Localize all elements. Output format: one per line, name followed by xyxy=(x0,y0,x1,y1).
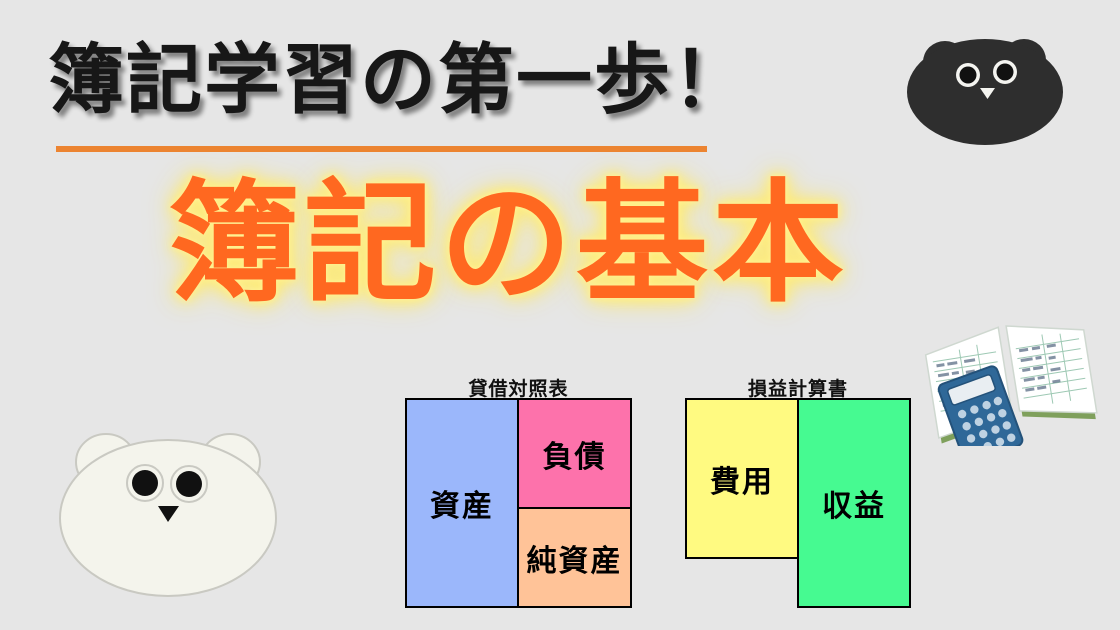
page-title: 簿記の基本 xyxy=(168,178,848,310)
kicker-heading: 簿記学習の第一歩！ xyxy=(48,42,750,118)
cell-label-expenses: 費用 xyxy=(710,457,774,501)
cell-label-assets: 資産 xyxy=(430,481,494,525)
income-statement-label: 損益計算書 xyxy=(685,374,911,401)
income-statement-cell-revenue: 収益 xyxy=(797,398,911,608)
balance-sheet-label: 貸借対照表 xyxy=(405,374,632,401)
slide-canvas: 簿記学習の第一歩！ 簿記の基本 xyxy=(0,0,1120,630)
kicker-underline xyxy=(56,146,707,152)
ledger-book-icon xyxy=(920,306,1100,450)
balance-sheet-cell-liabilities: 負債 xyxy=(517,398,632,509)
income-statement-cell-expenses: 費用 xyxy=(685,398,799,559)
cell-label-equity: 純資産 xyxy=(527,536,623,580)
cell-label-liabilities: 負債 xyxy=(543,432,607,476)
balance-sheet-cell-equity: 純資産 xyxy=(517,507,632,608)
cell-label-revenue: 収益 xyxy=(822,481,886,525)
white-bear-icon xyxy=(48,415,288,609)
balance-sheet-cell-assets: 資産 xyxy=(405,398,519,608)
black-bear-icon xyxy=(900,22,1070,156)
